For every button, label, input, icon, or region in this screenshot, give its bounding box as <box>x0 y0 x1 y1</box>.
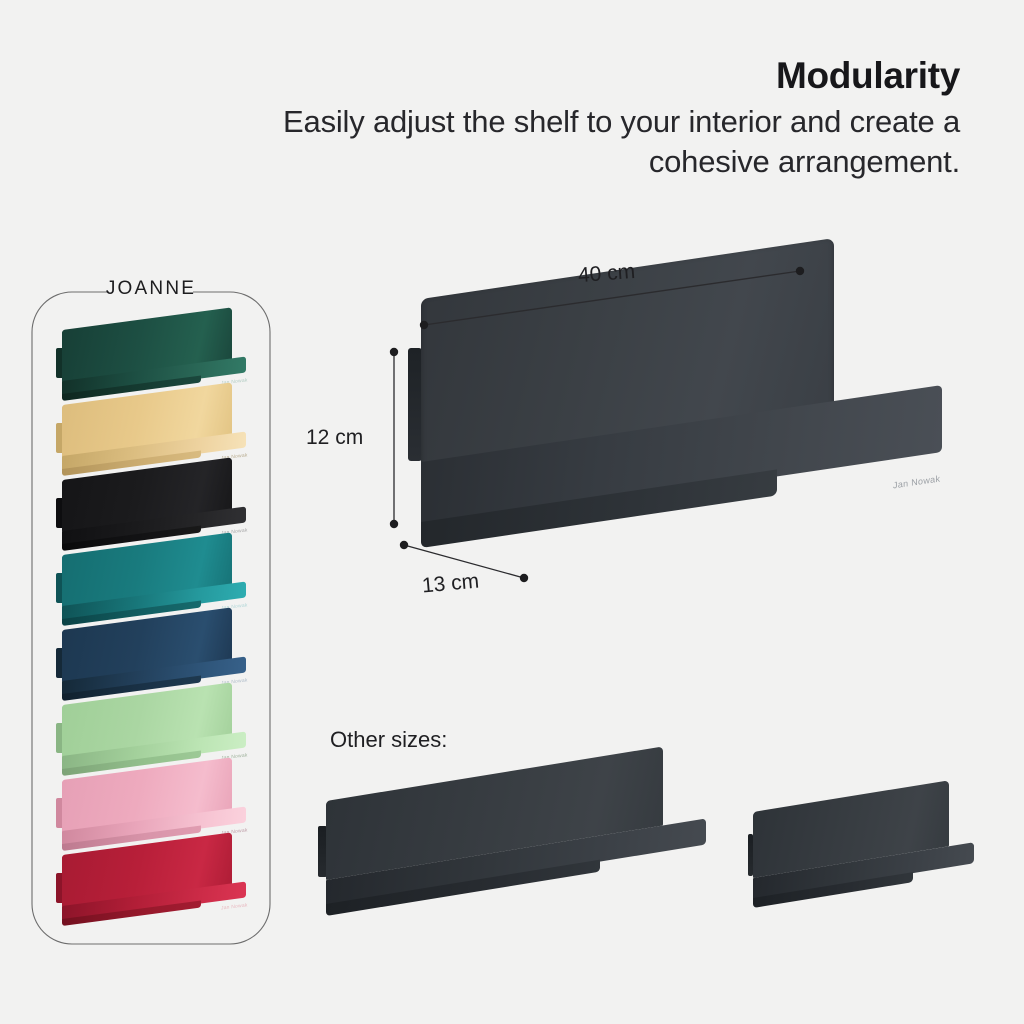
other-sizes-label: Other sizes: <box>330 727 447 753</box>
page-subtitle: Easily adjust the shelf to your interior… <box>250 102 960 181</box>
shelf-render <box>318 793 710 921</box>
hero-shelf: Jan Nowak <box>408 296 948 554</box>
dimension-height-label: 12 cm <box>306 426 363 450</box>
infographic-stage: Modularity Easily adjust the shelf to yo… <box>0 0 1024 1024</box>
shelf-render <box>748 806 976 912</box>
bracket-tab <box>408 348 422 462</box>
swatch-list: Jan Nowak Jan Nowak Jan No <box>31 329 271 929</box>
brand-mark: Jan Nowak <box>893 473 940 490</box>
other-size-long-shelf[interactable] <box>318 793 710 921</box>
swatch-crimson[interactable]: Jan Nowak <box>55 854 253 928</box>
dimension-depth-label: 13 cm <box>421 570 480 599</box>
page-title: Modularity <box>250 55 960 96</box>
brand-mark: Jan Nowak <box>221 903 248 912</box>
other-size-short-shelf[interactable] <box>748 806 976 912</box>
color-variants-card: JOANNE Jan Nowak Jan Nowak <box>31 291 271 945</box>
dimension-width-label: 40 cm <box>577 260 636 288</box>
shelf-render: Jan Nowak <box>408 296 948 554</box>
headline-block: Modularity Easily adjust the shelf to yo… <box>250 55 960 182</box>
shelf-render: Jan Nowak <box>55 854 253 928</box>
